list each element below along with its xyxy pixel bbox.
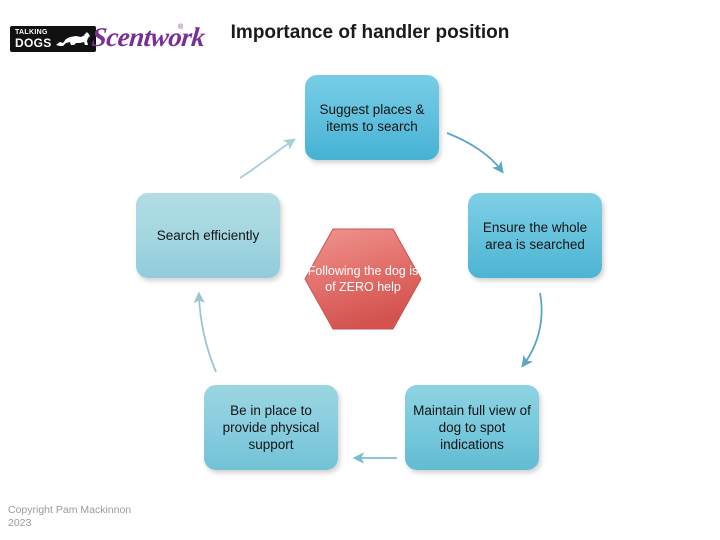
arrow-suggest-to-ensure xyxy=(447,133,501,170)
page-title: Importance of handler position xyxy=(160,22,580,44)
cycle-node-suggest[interactable]: Suggest places & items to search xyxy=(305,75,439,160)
cycle-node-beinplace-label: Be in place to provide physical support xyxy=(212,402,330,453)
arrow-ensure-to-maintain xyxy=(524,293,542,364)
hexagon-shape-icon xyxy=(303,227,423,331)
logo-dogs-text: DOGS xyxy=(15,37,52,50)
cycle-node-beinplace[interactable]: Be in place to provide physical support xyxy=(204,385,338,470)
dog-silhouette-icon xyxy=(54,31,94,49)
slide-canvas: TALKING DOGS Scentwork ® Importance of h… xyxy=(0,0,720,540)
logo-badge: TALKING DOGS xyxy=(10,26,96,52)
copyright-line-2: 2023 xyxy=(8,517,208,530)
cycle-node-maintain[interactable]: Maintain full view of dog to spot indica… xyxy=(405,385,539,470)
cycle-center-hexagon[interactable]: Following the dog is of ZERO help xyxy=(303,227,423,331)
cycle-node-suggest-label: Suggest places & items to search xyxy=(313,101,431,135)
cycle-node-maintain-label: Maintain full view of dog to spot indica… xyxy=(413,402,531,453)
copyright-notice: Copyright Pam Mackinnon 2023 xyxy=(8,504,208,530)
cycle-node-ensure-label: Ensure the whole area is searched xyxy=(476,219,594,253)
cycle-node-search-efficiently[interactable]: Search efficiently xyxy=(136,193,280,278)
cycle-node-search-efficiently-label: Search efficiently xyxy=(157,227,260,244)
arrow-beinplace-to-searcheff xyxy=(199,296,216,372)
cycle-node-ensure[interactable]: Ensure the whole area is searched xyxy=(468,193,602,278)
copyright-line-1: Copyright Pam Mackinnon xyxy=(8,504,208,517)
arrow-searcheff-to-suggest xyxy=(240,141,292,178)
